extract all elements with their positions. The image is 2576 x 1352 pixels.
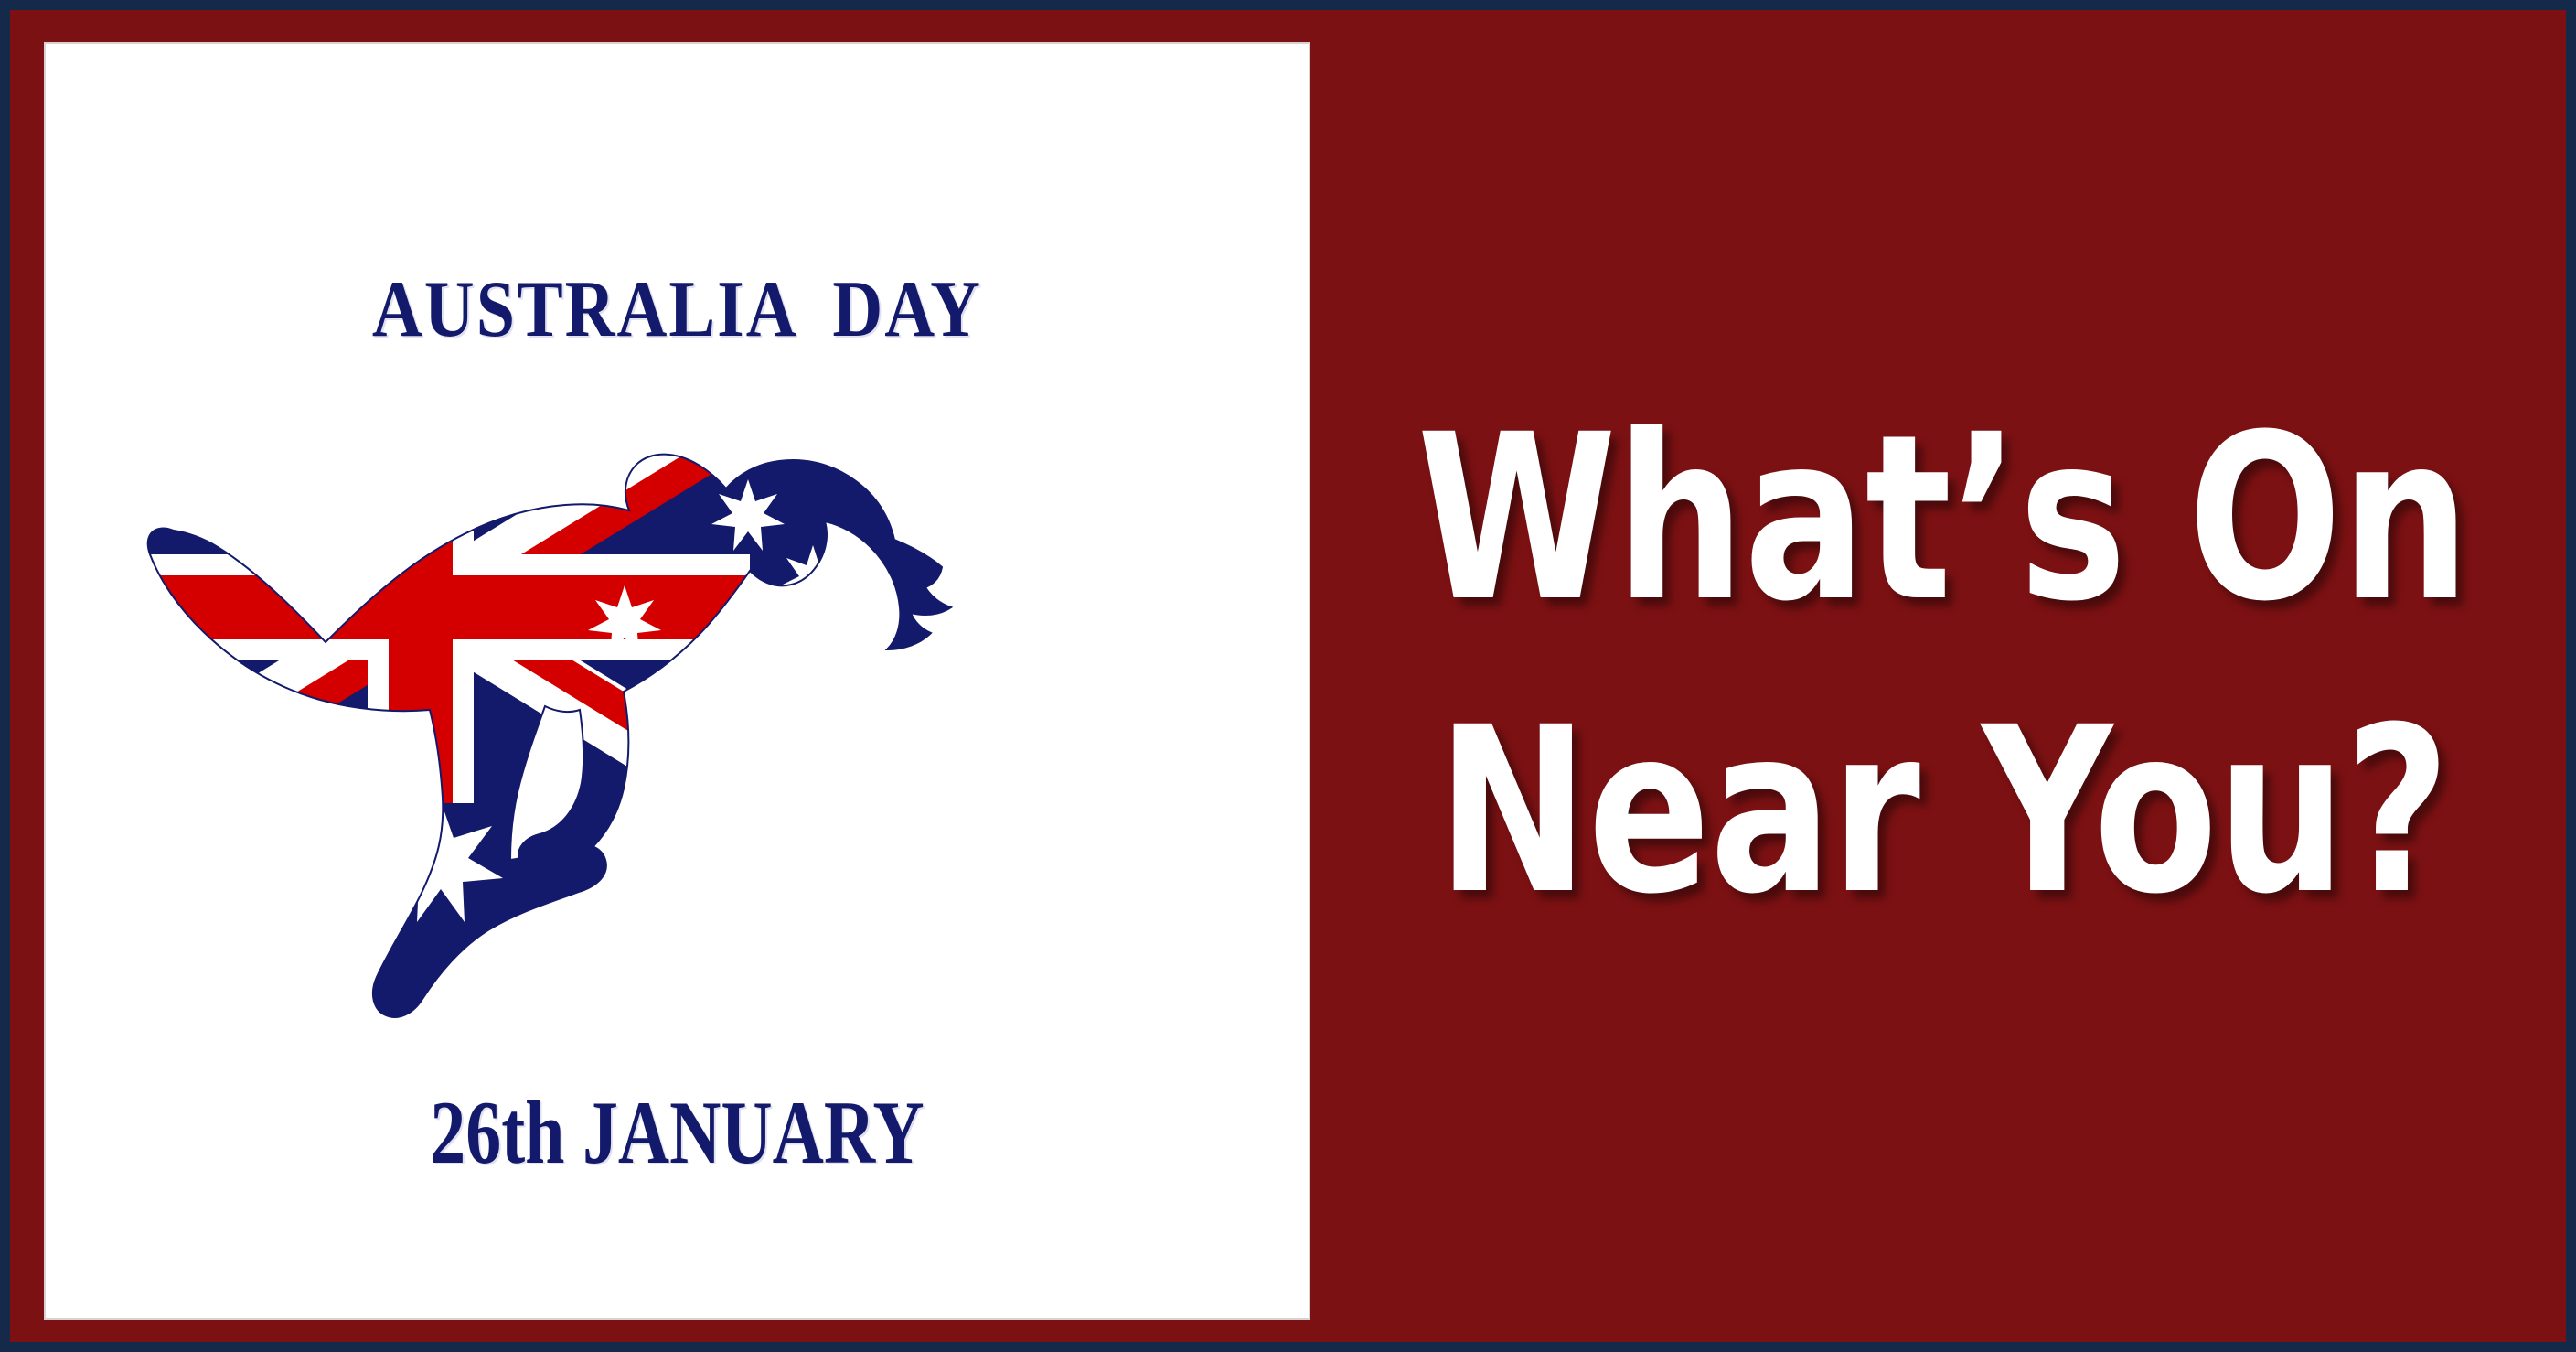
australia-day-card: AUSTRALIA DAY bbox=[44, 42, 1310, 1320]
headline-line-2: Near You? bbox=[1437, 665, 2449, 958]
headline-panel: What’s On Near You? bbox=[1320, 10, 2566, 1342]
australia-day-banner: AUSTRALIA DAY bbox=[0, 0, 2576, 1352]
headline-line-1: What’s On bbox=[1416, 372, 2469, 665]
kangaroo-flag-graphic bbox=[146, 446, 1125, 1041]
union-jack bbox=[146, 446, 763, 810]
card-title: AUSTRALIA DAY bbox=[46, 263, 1309, 356]
flag-fill bbox=[146, 446, 1125, 1041]
card-date: 26th JANUARY bbox=[78, 1081, 1277, 1185]
